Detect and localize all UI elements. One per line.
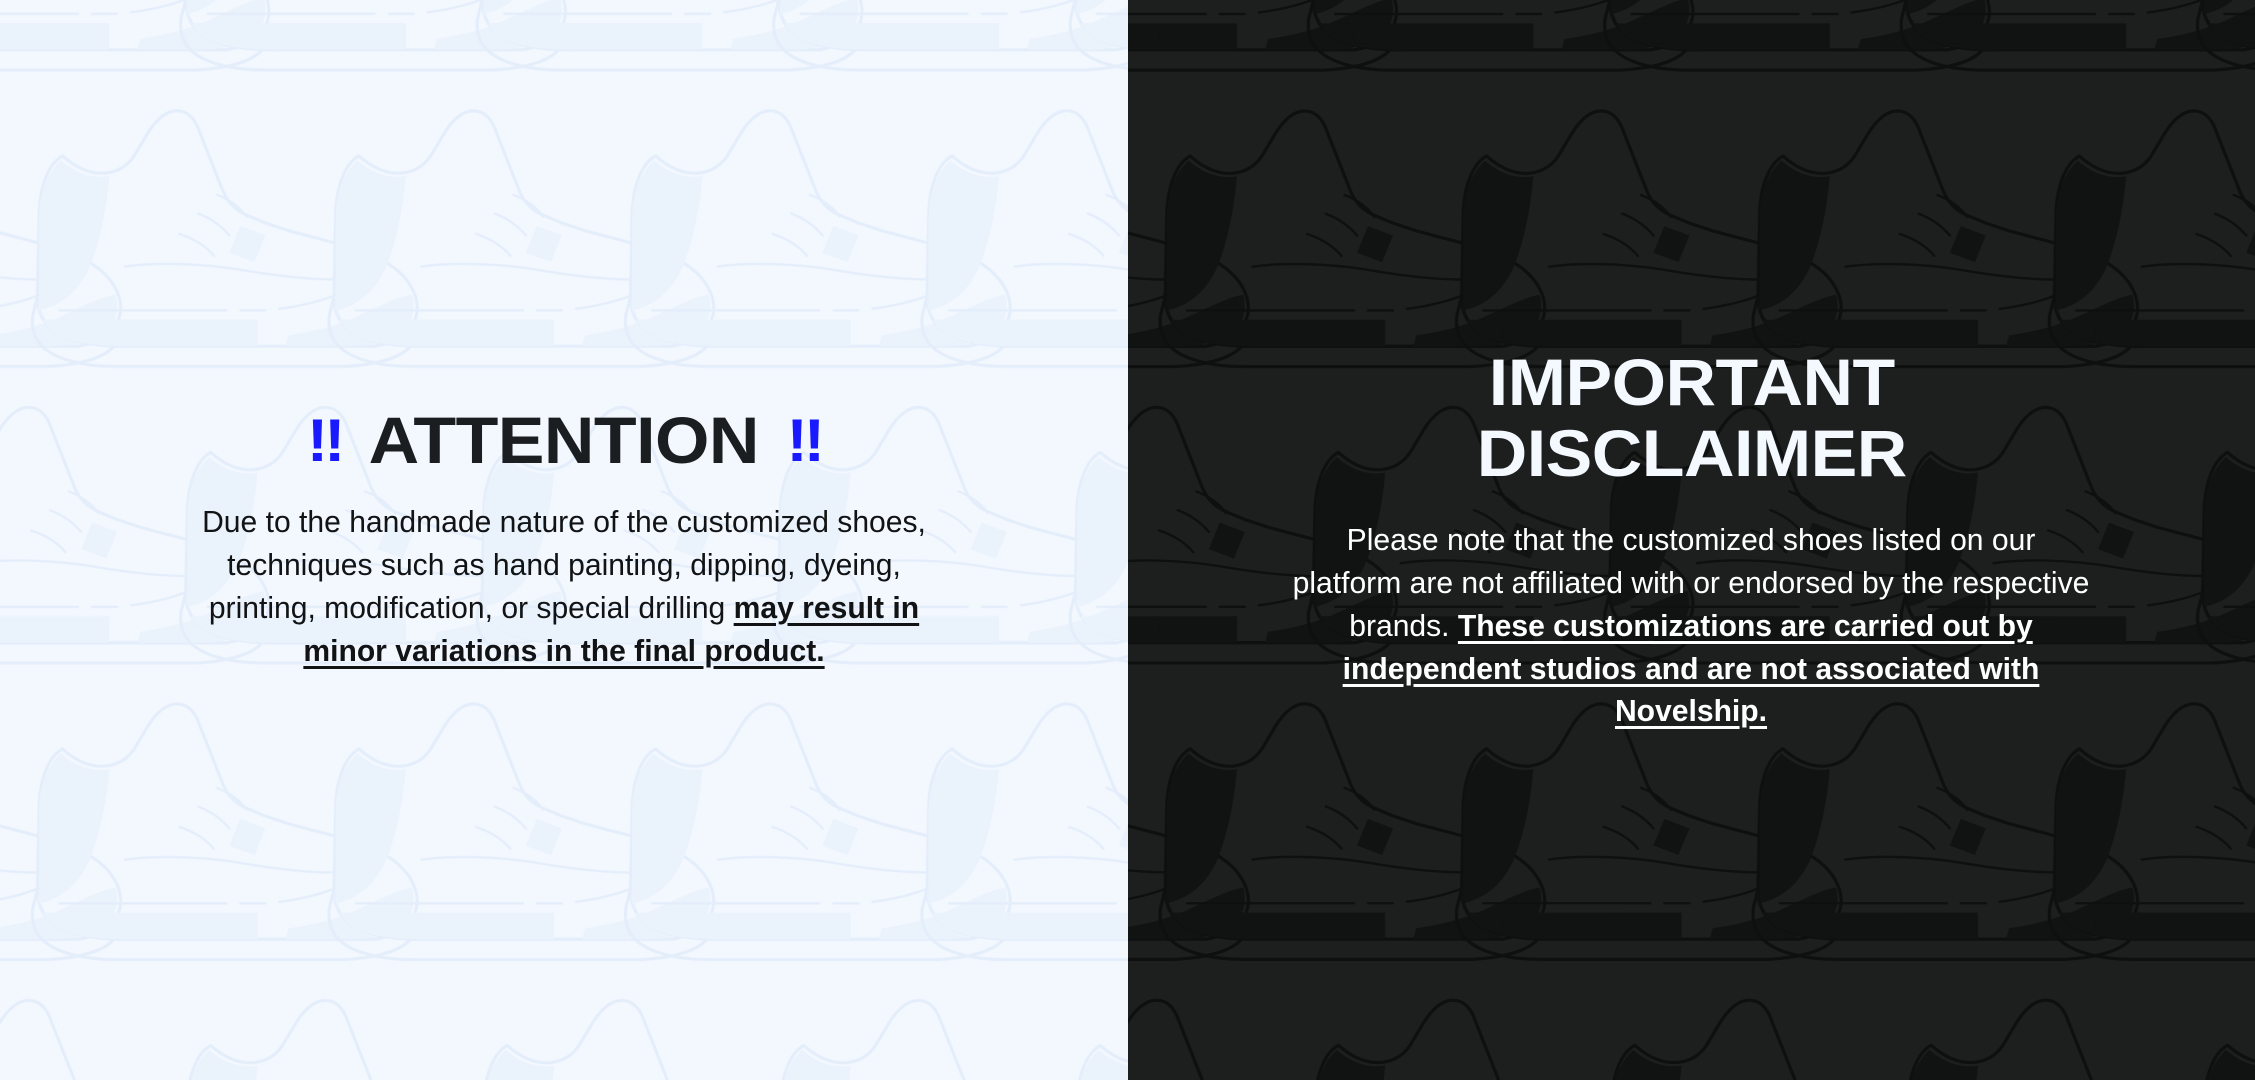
disclaimer-body: Please note that the customized shoes li… — [1289, 519, 2094, 733]
disclaimer-panel: IMPORTANT DISCLAIMER Please note that th… — [1128, 0, 2255, 1080]
attention-content: ‼ATTENTION‼ Due to the handmade nature o… — [0, 407, 1128, 672]
double-exclamation-icon-right: ‼ — [786, 411, 820, 471]
disclaimer-heading-line2: DISCLAIMER — [1157, 418, 2225, 489]
double-exclamation-icon-left: ‼ — [307, 411, 341, 471]
disclaimer-content: IMPORTANT DISCLAIMER Please note that th… — [1128, 347, 2255, 733]
disclaimer-heading: IMPORTANT DISCLAIMER — [1157, 347, 2225, 490]
disclaimer-banner: ‼ATTENTION‼ Due to the handmade nature o… — [0, 0, 2255, 1080]
attention-body: Due to the handmade nature of the custom… — [176, 501, 952, 672]
attention-heading: ‼ATTENTION‼ — [30, 407, 1098, 473]
disclaimer-heading-line1: IMPORTANT — [1157, 347, 2225, 418]
attention-panel: ‼ATTENTION‼ Due to the handmade nature o… — [0, 0, 1128, 1080]
attention-heading-text: ATTENTION — [369, 403, 759, 477]
